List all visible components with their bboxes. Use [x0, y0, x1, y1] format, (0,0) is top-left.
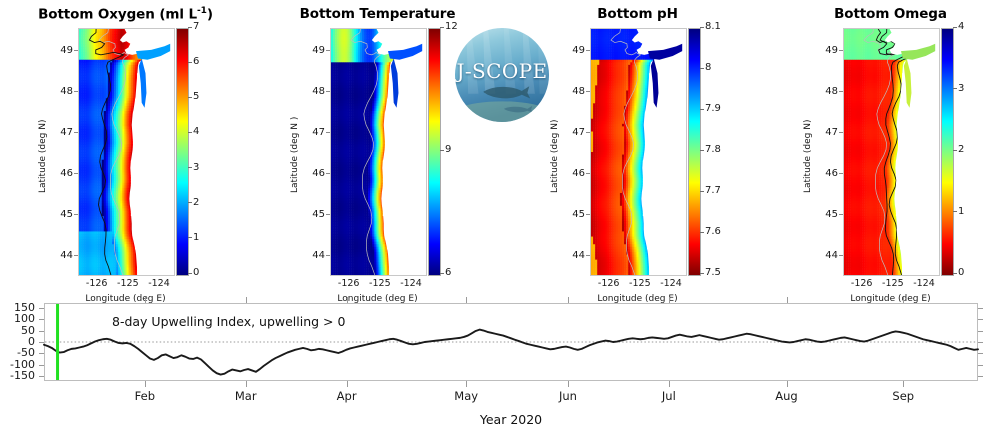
- ts-xtick-Apr: Apr: [317, 389, 377, 403]
- ts-xtick-mark: [568, 381, 569, 387]
- ts-ytick-mark-right: [978, 319, 983, 320]
- ts-xtick-Mar: Mar: [216, 389, 276, 403]
- ts-ytick-mark-right: [978, 342, 983, 343]
- ts-ytick-mark: [39, 331, 44, 332]
- ts-ytick-mark-right: [978, 353, 983, 354]
- figure-root: Bottom Oxygen (ml L-1)494847464544-126-1…: [0, 0, 1000, 430]
- upwelling-index-chart: 150100500-50-100-150FebMarAprMayJunJulAu…: [0, 0, 1000, 430]
- ts-xtick-mark: [787, 381, 788, 387]
- ts-ytick-mark-right: [978, 331, 983, 332]
- ts-xtick-mark-top: [787, 297, 788, 303]
- ts-xtick-Feb: Feb: [115, 389, 175, 403]
- ts-xtick-mark: [903, 381, 904, 387]
- ts-ytick-mark-right: [978, 365, 983, 366]
- ts-ytick-mark: [39, 308, 44, 309]
- ts-xtick-mark-top: [246, 297, 247, 303]
- ts-xtick-mark: [669, 381, 670, 387]
- ts-ytick-mark: [39, 365, 44, 366]
- ts-ytick--150: -150: [0, 369, 35, 382]
- ts-ytick-mark: [39, 376, 44, 377]
- ts-xtick-mark-top: [903, 297, 904, 303]
- ts-xtick-mark: [347, 381, 348, 387]
- ts-annotation: 8-day Upwelling Index, upwelling > 0: [112, 314, 345, 329]
- ts-ytick-mark: [39, 342, 44, 343]
- ts-xtick-mark-top: [568, 297, 569, 303]
- ts-xtick-mark-top: [466, 297, 467, 303]
- ts-xtick-May: May: [436, 389, 496, 403]
- ts-xlabel: Year 2020: [431, 412, 591, 427]
- ts-xtick-mark: [145, 381, 146, 387]
- ts-xtick-mark-top: [347, 297, 348, 303]
- ts-xtick-mark: [466, 381, 467, 387]
- ts-ytick-mark: [39, 353, 44, 354]
- ts-ytick-mark: [39, 319, 44, 320]
- ts-xtick-mark-top: [145, 297, 146, 303]
- ts-xtick-Aug: Aug: [757, 389, 817, 403]
- ts-xtick-mark: [246, 381, 247, 387]
- ts-xtick-Jun: Jun: [538, 389, 598, 403]
- ts-ytick-mark-right: [978, 376, 983, 377]
- ts-xtick-Jul: Jul: [639, 389, 699, 403]
- ts-xtick-Sep: Sep: [873, 389, 933, 403]
- ts-ytick-mark-right: [978, 308, 983, 309]
- ts-xtick-mark-top: [669, 297, 670, 303]
